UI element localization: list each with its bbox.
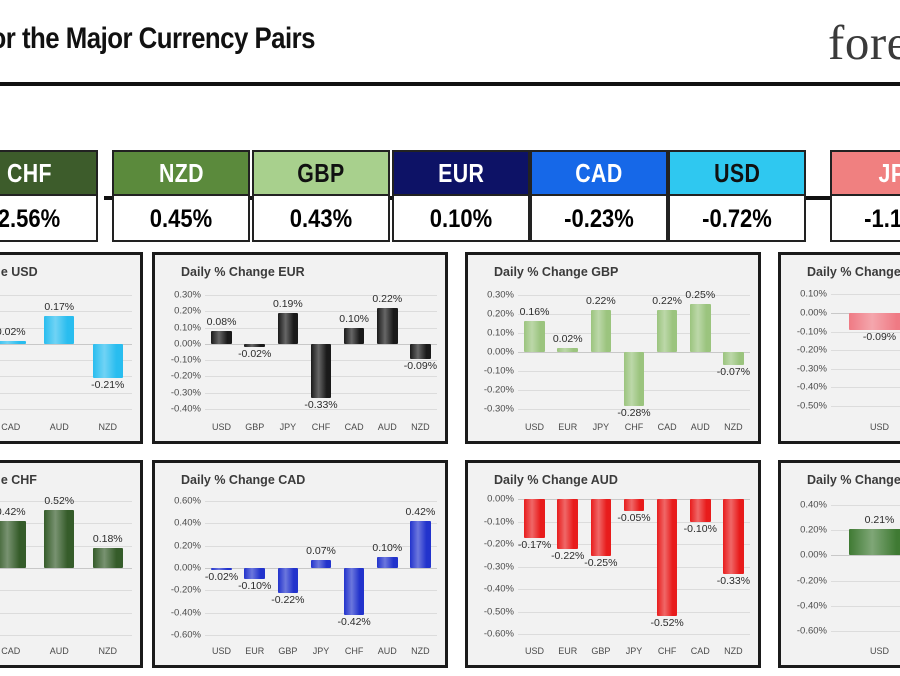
currency-tile-nzd[interactable]: NZD0.45% (112, 150, 250, 242)
bar-aud-usd (524, 499, 545, 537)
gridline (831, 505, 900, 506)
bar-aud-chf (657, 499, 678, 616)
bar-eur-jpy (278, 313, 299, 344)
x-axis-tick: AUD (50, 646, 69, 656)
x-axis-tick: AUD (378, 646, 397, 656)
currency-tile-cad[interactable]: CAD-0.23% (530, 150, 668, 242)
gridline (831, 631, 900, 632)
chart-title-jpy: Daily % Change JPY (807, 265, 900, 279)
bar-cad-aud (377, 557, 398, 568)
y-axis-tick: 0.40% (174, 518, 201, 529)
plot-area-eur: 0.30%0.20%0.10%0.00%-0.10%-0.20%-0.30%-0… (205, 287, 437, 417)
bar-value-label: 0.22% (586, 295, 616, 307)
bar-value-label: 0.18% (93, 533, 123, 545)
gridline (518, 295, 750, 296)
bar-value-label: -0.02% (238, 348, 271, 360)
gridline (831, 406, 900, 407)
chart-panel-cad: Daily % Change CAD0.60%0.40%0.20%0.00%-0… (152, 460, 448, 668)
tile-value: 0.43% (262, 196, 380, 242)
bar-aud-eur (557, 499, 578, 548)
chart-body-aud: Daily % Change AUD0.00%-0.10%-0.20%-0.30… (472, 467, 754, 661)
x-axis-tick: EUR (245, 646, 264, 656)
page-title: e for the Major Currency Pairs (0, 22, 315, 56)
plot-area-chf: 0.60%0.40%0.20%0.00%-0.20%-0.40%-0.60%.4… (0, 495, 132, 641)
chart-body-chf: Daily % Change CHF0.60%0.40%0.20%0.00%-0… (0, 467, 136, 661)
chart-body-gbp: Daily % Change GBP0.30%0.20%0.10%0.00%-0… (472, 259, 754, 437)
y-axis-tick: 0.20% (174, 540, 201, 551)
x-axis-tick: NZD (724, 422, 743, 432)
y-axis-tick: 0.40% (800, 500, 827, 511)
y-axis-tick: -0.50% (484, 606, 514, 617)
gridline (205, 613, 437, 614)
y-axis-tick: 0.20% (487, 308, 514, 319)
bar-eur-aud (377, 308, 398, 344)
y-axis-tick: 0.10% (174, 322, 201, 333)
tile-code: GBP (297, 158, 344, 189)
bar-nzd-usd (849, 529, 900, 555)
tile-header-gbp: GBP (254, 152, 388, 196)
y-axis-tick: -0.40% (171, 403, 201, 414)
chart-panel-gbp: Daily % Change GBP0.30%0.20%0.10%0.00%-0… (465, 252, 761, 444)
bar-value-label: -0.52% (651, 617, 684, 629)
bar-eur-cad (344, 328, 365, 344)
x-axis-tick: JPY (313, 646, 330, 656)
gridline (0, 568, 132, 569)
x-axis-tick: AUD (378, 422, 397, 432)
gridline (831, 555, 900, 556)
bar-value-label: 0.10% (339, 313, 369, 325)
y-axis-tick: 0.00% (174, 338, 201, 349)
y-axis-tick: -0.10% (484, 516, 514, 527)
bar-gbp-chf (624, 352, 645, 406)
x-axis-tick: NZD (99, 422, 118, 432)
tile-code: EUR (438, 158, 484, 189)
gridline (0, 635, 132, 636)
bar-cad-usd (211, 568, 232, 570)
bar-value-label: -0.07% (717, 366, 750, 378)
bar-eur-chf (311, 344, 332, 398)
bar-aud-cad (690, 499, 711, 521)
bar-value-label: -0.10% (238, 580, 271, 592)
bar-value-label: -0.42% (338, 616, 371, 628)
currency-tile-jpy[interactable]: JPY-1.16% (830, 150, 900, 242)
x-axis-tick: USD (212, 422, 231, 432)
bar-value-label: -0.10% (684, 523, 717, 535)
tile-header-usd: USD (670, 152, 804, 196)
x-axis-tick: USD (212, 646, 231, 656)
bar-usd-nzd (93, 344, 123, 378)
y-axis-tick: -0.40% (797, 382, 827, 393)
chart-panel-usd: Daily % Change USD0.30%0.20%0.10%0.00%-0… (0, 252, 143, 444)
plot-area-gbp: 0.30%0.20%0.10%0.00%-0.10%-0.20%-0.30%0.… (518, 287, 750, 417)
tile-value: -1.16% (840, 196, 900, 242)
gridline (205, 635, 437, 636)
bar-value-label: -0.09% (404, 360, 437, 372)
bar-value-label: 0.22% (652, 295, 682, 307)
bar-value-label: 0.42% (406, 506, 436, 518)
gridline (0, 590, 132, 591)
y-axis-tick: -0.50% (797, 400, 827, 411)
tile-header-nzd: NZD (114, 152, 248, 196)
tile-value: 0.10% (402, 196, 520, 242)
tile-value: 2.56% (0, 196, 88, 242)
x-axis-tick: USD (525, 646, 544, 656)
gridline (205, 328, 437, 329)
tile-code: USD (714, 158, 760, 189)
tile-header-jpy: JPY (832, 152, 900, 196)
bar-value-label: -0.05% (617, 512, 650, 524)
gridline (0, 613, 132, 614)
tile-header-eur: EUR (394, 152, 528, 196)
chart-panel-aud: Daily % Change AUD0.00%-0.10%-0.20%-0.30… (465, 460, 761, 668)
bar-chf-cad (0, 521, 26, 568)
chart-body-usd: Daily % Change USD0.30%0.20%0.10%0.00%-0… (0, 259, 136, 437)
tile-value: -0.72% (678, 196, 796, 242)
bar-eur-nzd (410, 344, 431, 359)
bar-gbp-eur (557, 348, 578, 352)
plot-area-jpy: 0.10%0.00%-0.10%-0.20%-0.30%-0.40%-0.50%… (831, 287, 900, 417)
gridline (205, 295, 437, 296)
tile-value: -0.23% (540, 196, 658, 242)
y-axis-tick: 0.00% (174, 563, 201, 574)
y-axis-tick: -0.20% (797, 345, 827, 356)
bar-usd-aud (44, 316, 74, 344)
bar-value-label: 0.52% (44, 495, 74, 507)
chart-body-jpy: Daily % Change JPY0.10%0.00%-0.10%-0.20%… (785, 259, 900, 437)
y-axis-tick: 0.30% (174, 290, 201, 301)
bar-value-label: 0.17% (44, 301, 74, 313)
tile-code: CHF (6, 158, 51, 189)
x-axis-tick: CHF (312, 422, 331, 432)
chart-title-chf: Daily % Change CHF (0, 473, 37, 487)
chart-panel-chf: Daily % Change CHF0.60%0.40%0.20%0.00%-0… (0, 460, 143, 668)
bar-cad-eur (244, 568, 265, 579)
tile-header-cad: CAD (532, 152, 666, 196)
bar-aud-nzd (723, 499, 744, 573)
gridline (831, 369, 900, 370)
bar-jpy-usd (849, 313, 900, 330)
bar-aud-jpy (624, 499, 645, 510)
x-axis-tick: USD (870, 646, 889, 656)
tile-code: CAD (575, 158, 622, 189)
y-axis-tick: 0.00% (487, 494, 514, 505)
tile-value: 0.45% (122, 196, 240, 242)
y-axis-tick: 0.00% (800, 308, 827, 319)
x-axis-tick: AUD (691, 422, 710, 432)
x-axis-tick: NZD (99, 646, 118, 656)
gridline (0, 295, 132, 296)
currency-tile-usd[interactable]: USD-0.72% (668, 150, 806, 242)
currency-tile-chf[interactable]: CHF2.56% (0, 150, 98, 242)
x-axis-tick: CAD (1, 422, 20, 432)
bar-usd-cad (0, 341, 26, 344)
x-axis-tick: USD (870, 422, 889, 432)
tile-code: JPY (878, 158, 900, 189)
bar-value-label: 0.42% (0, 506, 26, 518)
bar-aud-gbp (591, 499, 612, 555)
bar-cad-chf (344, 568, 365, 615)
bar-eur-usd (211, 331, 232, 344)
y-axis-tick: -0.10% (797, 326, 827, 337)
chart-title-aud: Daily % Change AUD (494, 473, 618, 487)
y-axis-tick: 0.30% (487, 289, 514, 300)
bar-chf-aud (44, 510, 74, 568)
bar-gbp-usd (524, 321, 545, 352)
bar-gbp-aud (690, 304, 711, 352)
chart-panel-eur: Daily % Change EUR0.30%0.20%0.10%0.00%-0… (152, 252, 448, 444)
bar-value-label: -0.21% (91, 379, 124, 391)
bar-cad-gbp (278, 568, 299, 593)
y-axis-tick: 0.10% (800, 289, 827, 300)
x-axis-tick: NZD (724, 646, 743, 656)
x-axis-tick: EUR (558, 646, 577, 656)
gridline (831, 606, 900, 607)
gridline (831, 387, 900, 388)
x-axis-tick: CAD (691, 646, 710, 656)
bar-gbp-nzd (723, 352, 744, 365)
y-axis-tick: 0.20% (800, 525, 827, 536)
bar-cad-nzd (410, 521, 431, 568)
page-header: e for the Major Currency Pairs fore (0, 0, 900, 86)
gridline (205, 523, 437, 524)
x-axis-tick: AUD (50, 422, 69, 432)
y-axis-tick: -0.30% (171, 387, 201, 398)
x-axis-tick: GBP (278, 646, 297, 656)
forex-currency-strength-dashboard: e for the Major Currency Pairs fore tron… (0, 0, 900, 676)
chart-panel-nzd: Daily % Change NZD0.40%0.20%0.00%-0.20%-… (778, 460, 900, 668)
bar-gbp-cad (657, 310, 678, 352)
chart-body-nzd: Daily % Change NZD0.40%0.20%0.00%-0.20%-… (785, 467, 900, 661)
x-axis-tick: NZD (411, 422, 430, 432)
gridline (518, 589, 750, 590)
y-axis-tick: 0.60% (174, 495, 201, 506)
bar-gbp-jpy (591, 310, 612, 352)
plot-area-nzd: 0.40%0.20%0.00%-0.20%-0.40%-0.60%0.21%US… (831, 495, 900, 641)
x-axis-tick: GBP (591, 646, 610, 656)
y-axis-tick: -0.30% (484, 561, 514, 572)
bar-value-label: 0.21% (865, 514, 895, 526)
x-axis-tick: USD (525, 422, 544, 432)
gridline (0, 409, 132, 410)
bar-cad-jpy (311, 560, 332, 568)
bar-value-label: -0.33% (717, 575, 750, 587)
y-axis-tick: -0.20% (797, 575, 827, 586)
bar-eur-gbp (244, 344, 265, 347)
gridline (205, 501, 437, 502)
y-axis-tick: -0.30% (797, 363, 827, 374)
bar-value-label: -0.33% (304, 399, 337, 411)
x-axis-tick: NZD (411, 646, 430, 656)
bar-value-label: 0.16% (520, 306, 550, 318)
bar-value-label: -0.02% (205, 571, 238, 583)
y-axis-tick: -0.40% (484, 584, 514, 595)
brand-logo: fore (828, 14, 900, 71)
y-axis-tick: -0.60% (484, 629, 514, 640)
y-axis-tick: 0.00% (487, 347, 514, 358)
bar-value-label: -0.25% (584, 557, 617, 569)
tile-header-chf: CHF (0, 152, 96, 196)
strength-ranking-band: trongest (0, 86, 900, 148)
currency-tile-gbp[interactable]: GBP0.43% (252, 150, 390, 242)
gridline (831, 294, 900, 295)
x-axis-tick: JPY (280, 422, 297, 432)
bar-value-label: 0.19% (273, 298, 303, 310)
tile-code: NZD (158, 158, 203, 189)
gridline (518, 314, 750, 315)
bar-value-label: -0.22% (271, 594, 304, 606)
x-axis-tick: CAD (1, 646, 20, 656)
y-axis-tick: -0.60% (797, 625, 827, 636)
gridline (0, 393, 132, 394)
gridline (518, 567, 750, 568)
chart-title-cad: Daily % Change CAD (181, 473, 305, 487)
x-axis-tick: CAD (658, 422, 677, 432)
chart-title-eur: Daily % Change EUR (181, 265, 305, 279)
currency-tile-eur[interactable]: EUR0.10% (392, 150, 530, 242)
y-axis-tick: -0.40% (171, 607, 201, 618)
y-axis-tick: 0.10% (487, 327, 514, 338)
gridline (518, 634, 750, 635)
bar-value-label: 0.22% (372, 293, 402, 305)
x-axis-tick: CHF (658, 646, 677, 656)
gridline (518, 612, 750, 613)
bar-value-label: -0.22% (551, 550, 584, 562)
x-axis-tick: EUR (558, 422, 577, 432)
x-axis-tick: JPY (593, 422, 610, 432)
bar-value-label: 0.02% (553, 333, 583, 345)
bar-value-label: -0.17% (518, 539, 551, 551)
currency-strength-tiles: CHF2.56%NZD0.45%GBP0.43%EUR0.10%CAD-0.23… (0, 150, 900, 244)
y-axis-tick: -0.30% (484, 404, 514, 415)
gridline (518, 544, 750, 545)
chart-title-gbp: Daily % Change GBP (494, 265, 618, 279)
x-axis-tick: CHF (625, 422, 644, 432)
gridline (205, 311, 437, 312)
chart-title-usd: Daily % Change USD (0, 265, 38, 279)
chart-body-eur: Daily % Change EUR0.30%0.20%0.10%0.00%-0… (159, 259, 441, 437)
y-axis-tick: -0.20% (171, 371, 201, 382)
bar-value-label: 0.08% (207, 316, 237, 328)
gridline (831, 350, 900, 351)
x-axis-tick: GBP (245, 422, 264, 432)
y-axis-tick: -0.20% (484, 385, 514, 396)
y-axis-tick: -0.10% (171, 355, 201, 366)
bar-value-label: 0.25% (685, 289, 715, 301)
y-axis-tick: -0.20% (484, 539, 514, 550)
plot-area-aud: 0.00%-0.10%-0.20%-0.30%-0.40%-0.50%-0.60… (518, 495, 750, 641)
bar-value-label: 0.10% (372, 542, 402, 554)
bar-value-label: 0.02% (0, 326, 26, 338)
chart-panel-jpy: Daily % Change JPY0.10%0.00%-0.10%-0.20%… (778, 252, 900, 444)
y-axis-tick: -0.20% (171, 585, 201, 596)
y-axis-tick: -0.10% (484, 366, 514, 377)
gridline (205, 568, 437, 569)
plot-area-cad: 0.60%0.40%0.20%0.00%-0.20%-0.40%-0.60%-0… (205, 495, 437, 641)
y-axis-tick: 0.00% (800, 550, 827, 561)
y-axis-tick: 0.20% (174, 306, 201, 317)
bar-value-label: 0.07% (306, 545, 336, 557)
bar-chf-nzd (93, 548, 123, 568)
chart-title-nzd: Daily % Change NZD (807, 473, 900, 487)
bar-value-label: -0.28% (617, 407, 650, 419)
bar-value-label: -0.09% (863, 331, 896, 343)
y-axis-tick: -0.40% (797, 600, 827, 611)
chart-body-cad: Daily % Change CAD0.60%0.40%0.20%0.00%-0… (159, 467, 441, 661)
gridline (831, 581, 900, 582)
y-axis-tick: -0.60% (171, 630, 201, 641)
x-axis-tick: CHF (345, 646, 364, 656)
x-axis-tick: JPY (626, 646, 643, 656)
x-axis-tick: CAD (345, 422, 364, 432)
plot-area-usd: 0.30%0.20%0.10%0.00%-0.10%-0.20%-0.30%-0… (0, 287, 132, 417)
